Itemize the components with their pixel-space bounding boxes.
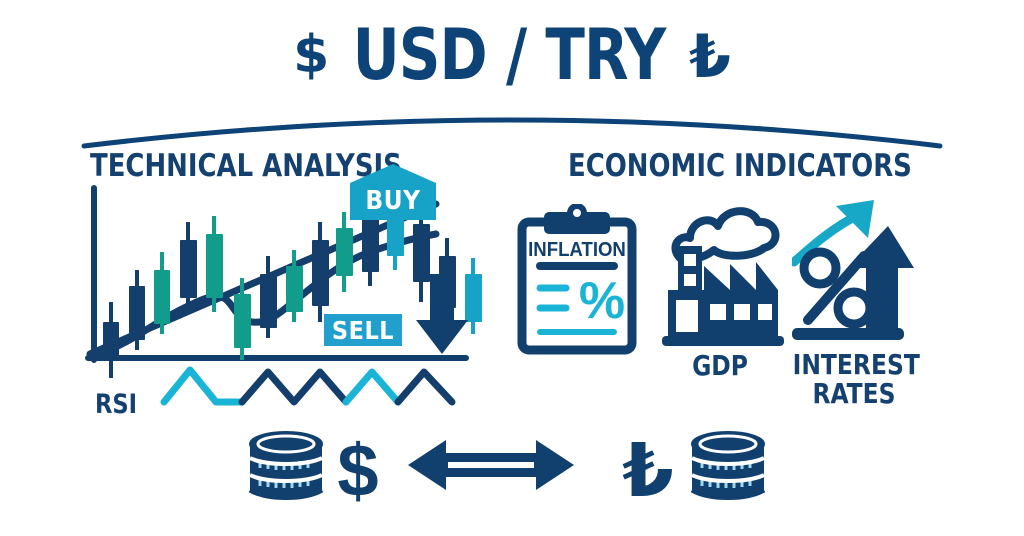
percent-symbol-icon: % — [579, 272, 625, 330]
candle — [180, 222, 197, 312]
interest-rates-label-line2: RATES — [793, 380, 916, 409]
inflation-label: INFLATION — [528, 239, 626, 261]
lira-sign-icon: ₺ — [618, 428, 678, 508]
buy-label: BUY — [365, 186, 420, 216]
interest-rates-label-line1: INTEREST — [793, 351, 916, 380]
candle — [103, 302, 119, 378]
exchange-arrow-icon — [408, 437, 574, 493]
interest-rates-icon — [792, 198, 916, 350]
candle — [154, 252, 170, 334]
coin-stack-usd-icon — [246, 430, 326, 506]
sell-signal-badge[interactable]: SELL — [324, 314, 402, 346]
currency-pair-title: USD / TRY — [353, 20, 666, 90]
dollar-symbol-icon: $ — [293, 29, 329, 81]
technical-analysis-heading: TECHNICAL ANALYSIS — [90, 148, 402, 184]
page-title: $ USD / TRY ₺ — [0, 14, 1024, 96]
candle — [129, 270, 145, 350]
candle — [312, 222, 329, 322]
inflation-clipboard-icon: INFLATION % — [516, 204, 638, 356]
candle — [206, 216, 223, 312]
interest-rates-label: INTEREST RATES — [793, 351, 916, 408]
svg-text:₺: ₺ — [622, 428, 674, 508]
rsi-oscillator — [160, 358, 460, 408]
candle — [336, 212, 353, 292]
dollar-sign-icon: $ — [330, 428, 386, 508]
candle — [260, 256, 277, 338]
gdp-label: GDP — [664, 352, 776, 381]
decorative-arc — [80, 100, 944, 150]
down-arrow-icon — [414, 272, 470, 358]
infographic-canvas: $ USD / TRY ₺ TECHNICAL ANALYSIS ECONOMI… — [0, 0, 1024, 536]
lira-symbol-icon: ₺ — [689, 27, 731, 87]
sell-label: SELL — [332, 316, 394, 345]
rsi-label: RSI — [95, 389, 137, 420]
svg-text:$: $ — [337, 429, 378, 508]
gdp-factory-icon — [660, 200, 784, 352]
coin-stack-try-icon — [688, 430, 768, 506]
economic-indicators-heading: ECONOMIC INDICATORS — [568, 148, 912, 184]
